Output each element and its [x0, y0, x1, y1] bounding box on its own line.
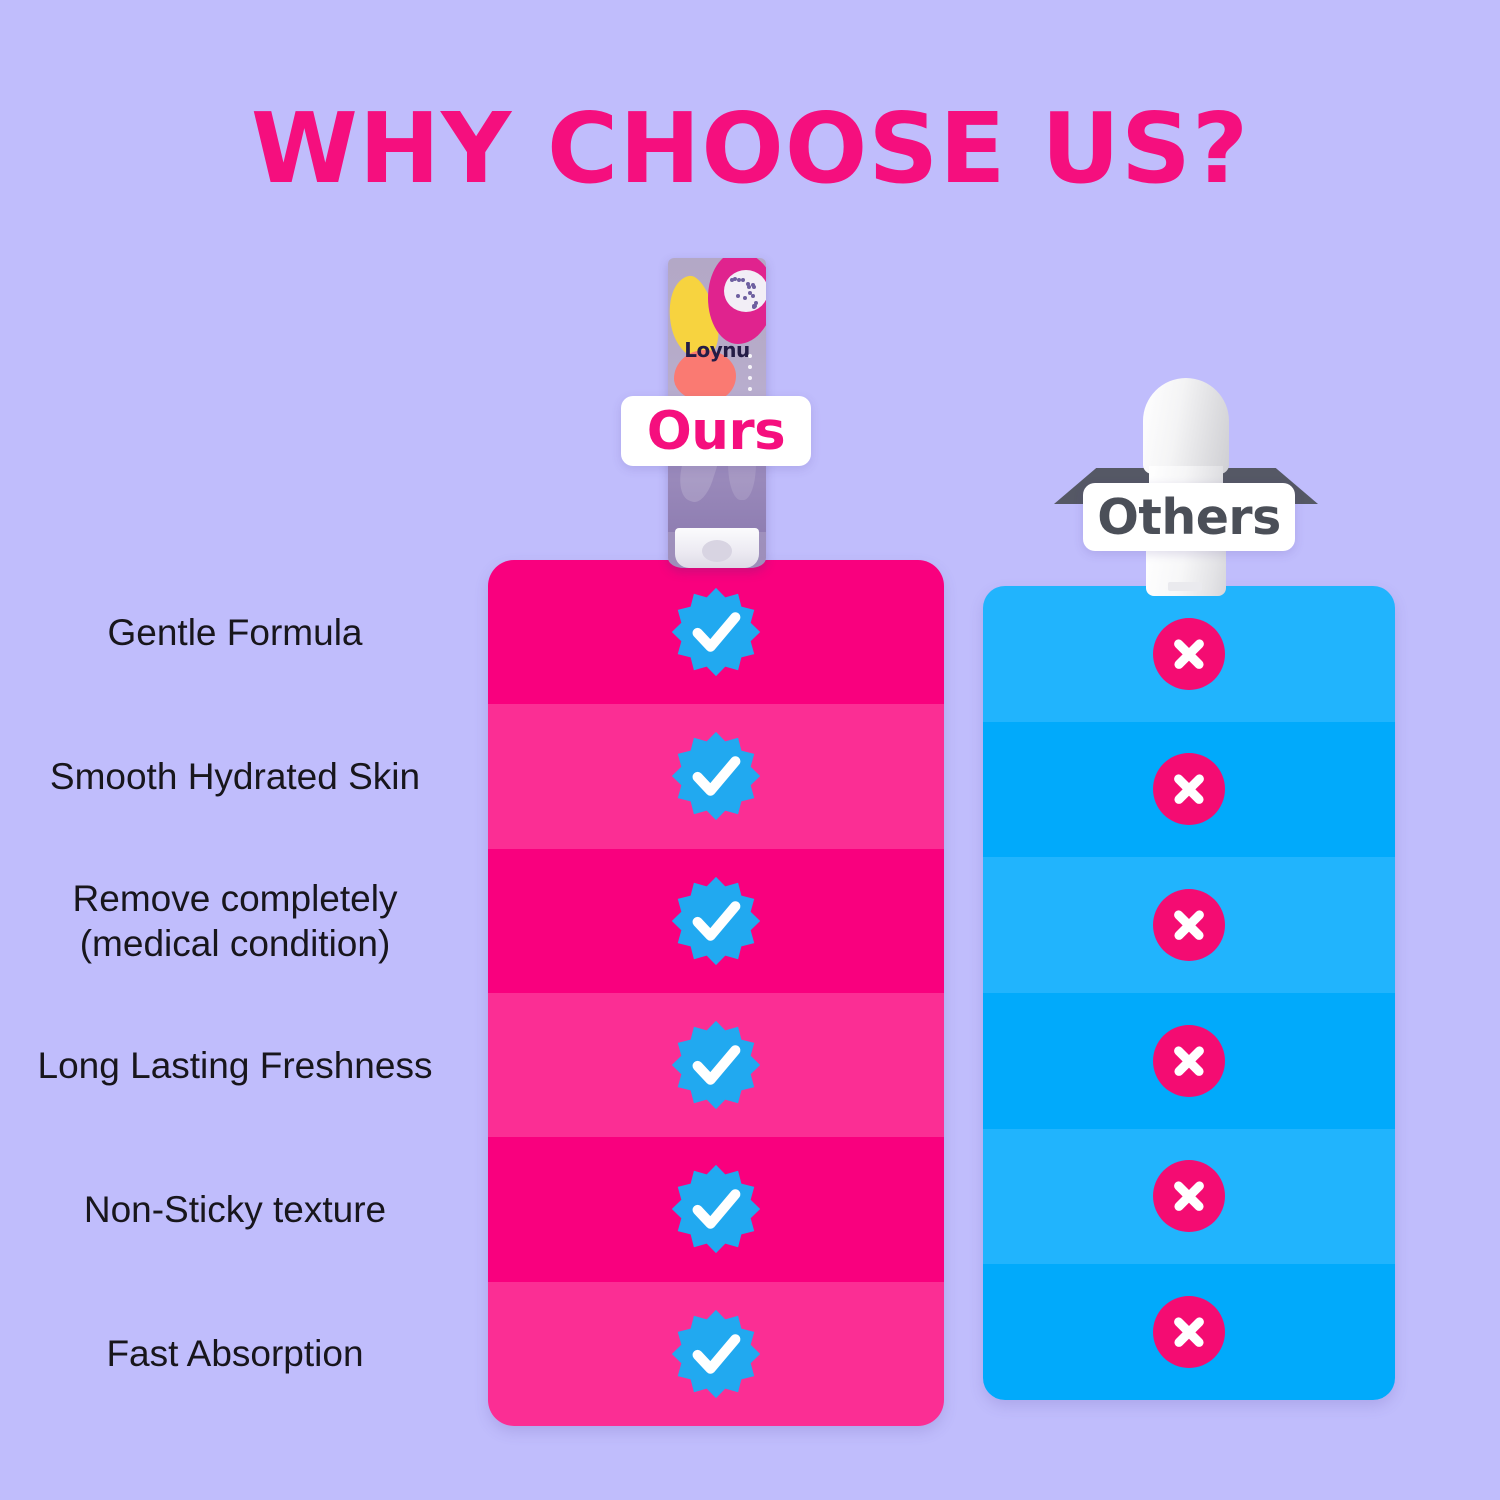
comparison-infographic: WHY CHOOSE US? Gentle FormulaSmooth Hydr…	[0, 0, 1500, 1500]
comparison-cell	[983, 993, 1395, 1129]
feature-label-row: Gentle Formula	[0, 560, 470, 704]
feature-label-row: Long Lasting Freshness	[0, 993, 470, 1137]
feature-label-row: Fast Absorption	[0, 1282, 470, 1426]
comparison-cell	[488, 560, 944, 704]
comparison-cell	[983, 1129, 1395, 1265]
x-mark	[1153, 618, 1225, 690]
feature-label-row: Remove completely(medical condition)	[0, 849, 470, 993]
x-circle-icon	[1153, 1160, 1225, 1232]
comparison-cell	[983, 1264, 1395, 1400]
x-circle-icon	[1153, 889, 1225, 961]
others-column	[983, 586, 1395, 1400]
feature-label-text: Gentle Formula	[108, 610, 363, 655]
comparison-cell	[983, 586, 1395, 722]
x-mark	[1153, 1296, 1225, 1368]
comparison-cell	[983, 857, 1395, 993]
x-mark	[1153, 1160, 1225, 1232]
feature-label-text: Remove completely(medical condition)	[73, 876, 398, 966]
x-mark	[1153, 1025, 1225, 1097]
ours-column	[488, 560, 944, 1426]
tube-cap	[675, 528, 759, 568]
tube-blob-dotted-oval	[724, 270, 766, 312]
check-badge-icon	[670, 1019, 762, 1111]
feature-label-text: Long Lasting Freshness	[38, 1043, 433, 1088]
x-circle-icon	[1153, 1025, 1225, 1097]
check-badge-icon	[670, 730, 762, 822]
comparison-cell	[983, 722, 1395, 858]
feature-label-text: Non-Sticky texture	[84, 1187, 386, 1232]
feature-label-row: Smooth Hydrated Skin	[0, 704, 470, 848]
feature-label-text: Fast Absorption	[106, 1331, 363, 1376]
x-circle-icon	[1153, 753, 1225, 825]
x-mark	[1153, 889, 1225, 961]
feature-label-list: Gentle FormulaSmooth Hydrated SkinRemove…	[0, 560, 470, 1426]
feature-label-row: Non-Sticky texture	[0, 1137, 470, 1281]
feature-label-text: Smooth Hydrated Skin	[50, 754, 420, 799]
comparison-cell	[488, 993, 944, 1137]
comparison-cell	[488, 1137, 944, 1281]
x-circle-icon	[1153, 1296, 1225, 1368]
check-badge-icon	[670, 1163, 762, 1255]
page-title: WHY CHOOSE US?	[0, 98, 1500, 200]
ours-badge: Ours	[621, 396, 811, 466]
comparison-cell	[488, 849, 944, 993]
x-mark	[1153, 753, 1225, 825]
ours-badge-label: Ours	[647, 401, 785, 462]
check-badge-icon	[670, 586, 762, 678]
others-badge: Others	[1083, 483, 1295, 551]
others-badge-label: Others	[1097, 489, 1281, 546]
check-badge-icon	[670, 1308, 762, 1400]
x-circle-icon	[1153, 618, 1225, 690]
check-badge-icon	[670, 875, 762, 967]
comparison-cell	[488, 1282, 944, 1426]
deodorant-dome-cap	[1143, 378, 1229, 474]
comparison-cell	[488, 704, 944, 848]
